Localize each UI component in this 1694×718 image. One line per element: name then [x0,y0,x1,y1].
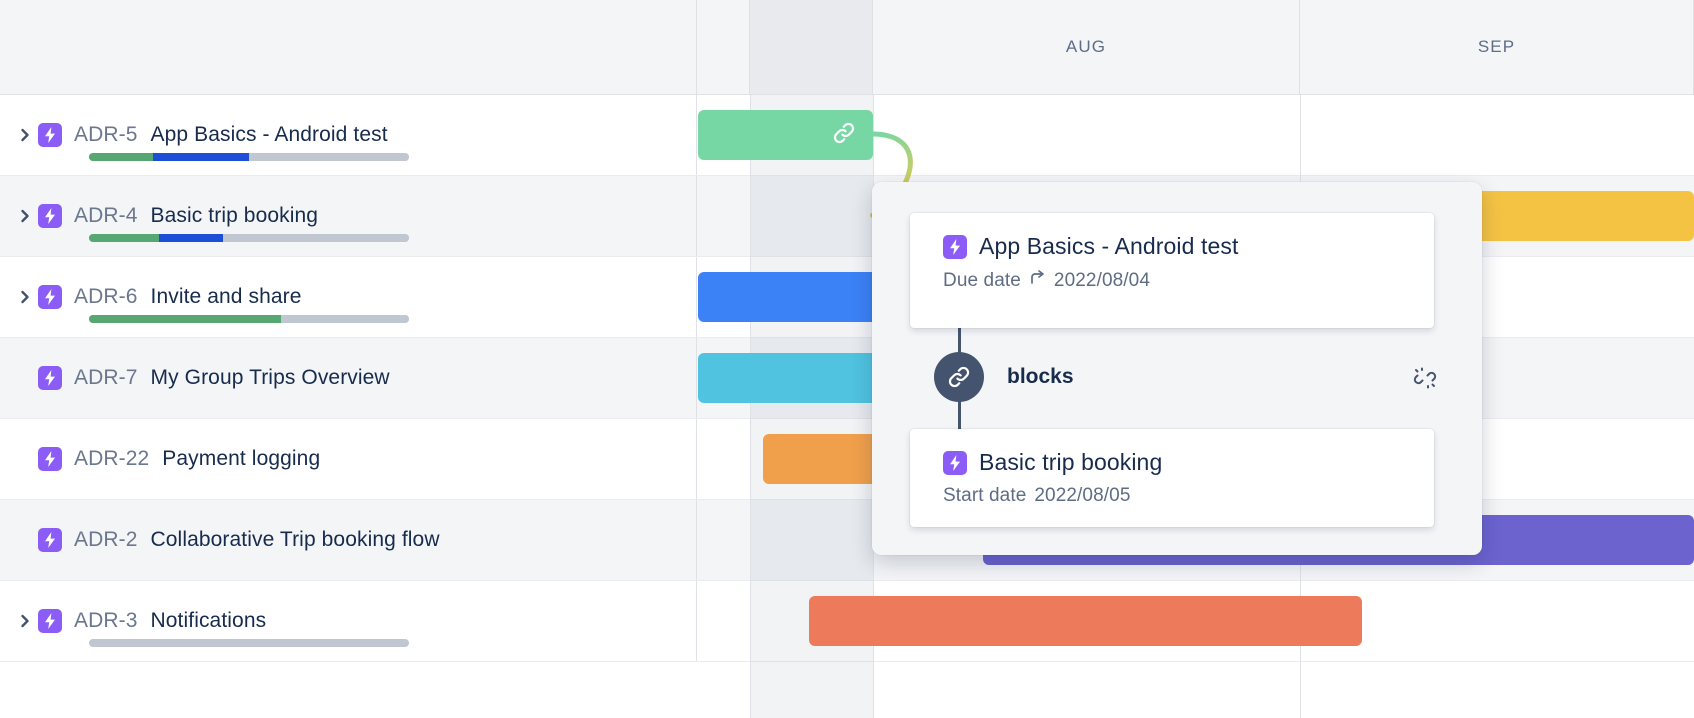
progress-segment [89,315,281,323]
timeline-month-header: SEP [1300,0,1694,94]
timeline-bar[interactable] [809,596,1362,646]
timeline-month-header [750,0,873,94]
timeline-view: AUGSEP ADR-5App Basics - Android testADR… [0,0,1694,718]
timeline-month-header: AUG [873,0,1300,94]
issue-key[interactable]: ADR-22 [74,447,149,471]
epic-bolt-icon [38,366,62,390]
dependency-relation: blocks [934,352,1074,402]
timeline-month-header [698,0,750,94]
timeline-header: AUGSEP [0,0,1694,95]
issue-summary[interactable]: My Group Trips Overview [151,366,390,390]
link-chain-icon[interactable] [831,120,857,151]
progress-segment [153,153,249,161]
dependency-source-date-label: Due date [943,270,1021,292]
epic-bolt-icon [38,285,62,309]
epic-bolt-icon [943,451,967,475]
issue-key[interactable]: ADR-3 [74,609,138,633]
chevron-right-icon[interactable] [12,284,38,310]
dependency-source-date: Due date 2022/08/04 [910,269,1434,292]
progress-segment [159,234,223,242]
epic-bolt-icon [38,447,62,471]
chevron-right-icon[interactable] [12,203,38,229]
chevron-right-icon [12,365,38,391]
row-sidebar-cell[interactable]: ADR-5App Basics - Android test [0,95,697,175]
row-sidebar-cell[interactable]: ADR-2Collaborative Trip booking flow [0,500,697,580]
issue-summary[interactable]: App Basics - Android test [151,123,388,147]
progress-segment [89,234,159,242]
issue-key[interactable]: ADR-5 [74,123,138,147]
row-sidebar-cell[interactable]: ADR-4Basic trip booking [0,176,697,256]
dependency-target-date-value: 2022/08/05 [1034,485,1130,507]
dependency-popup[interactable]: App Basics - Android test Due date 2022/… [872,182,1482,555]
chevron-right-icon[interactable] [12,608,38,634]
epic-bolt-icon [38,123,62,147]
issue-key[interactable]: ADR-6 [74,285,138,309]
dependency-source-card[interactable]: App Basics - Android test Due date 2022/… [910,213,1434,328]
row-sidebar-cell[interactable]: ADR-3Notifications [0,581,697,661]
chevron-right-icon [12,446,38,472]
row-sidebar-cell[interactable]: ADR-6Invite and share [0,257,697,337]
progress-bar [89,234,409,242]
progress-bar [89,153,409,161]
epic-bolt-icon [38,528,62,552]
issue-key[interactable]: ADR-2 [74,528,138,552]
progress-segment [223,234,409,242]
issue-summary[interactable]: Notifications [151,609,267,633]
chevron-right-icon [12,527,38,553]
timeline-bar[interactable] [1465,191,1694,241]
progress-segment [281,315,409,323]
header-sidebar-pane [0,0,697,94]
progress-bar [89,639,409,647]
dependency-target-card[interactable]: Basic trip booking Start date 2022/08/05 [910,429,1434,527]
row-sidebar-cell[interactable]: ADR-7My Group Trips Overview [0,338,697,418]
progress-segment [89,153,153,161]
unlink-icon[interactable] [1413,366,1437,390]
epic-bolt-icon [943,235,967,259]
dependency-target-date: Start date 2022/08/05 [910,485,1434,507]
issue-summary[interactable]: Collaborative Trip booking flow [151,528,440,552]
issue-key[interactable]: ADR-7 [74,366,138,390]
progress-segment [249,153,409,161]
dependency-source-date-value: 2022/08/04 [1054,270,1150,292]
dependency-source-title: App Basics - Android test [979,233,1238,260]
dependency-relation-label: blocks [1007,365,1074,389]
arrow-out-icon [1029,269,1046,292]
issue-summary[interactable]: Basic trip booking [151,204,319,228]
dependency-target-title: Basic trip booking [979,449,1162,476]
timeline-bar[interactable] [698,110,873,160]
issue-summary[interactable]: Invite and share [151,285,302,309]
issue-key[interactable]: ADR-4 [74,204,138,228]
epic-bolt-icon [38,204,62,228]
row-sidebar-cell[interactable]: ADR-22Payment logging [0,419,697,499]
issue-summary[interactable]: Payment logging [162,447,320,471]
chevron-right-icon[interactable] [12,122,38,148]
link-chain-icon [934,352,984,402]
progress-bar [89,315,409,323]
dependency-target-date-label: Start date [943,485,1026,507]
progress-segment [89,639,409,647]
epic-bolt-icon [38,609,62,633]
